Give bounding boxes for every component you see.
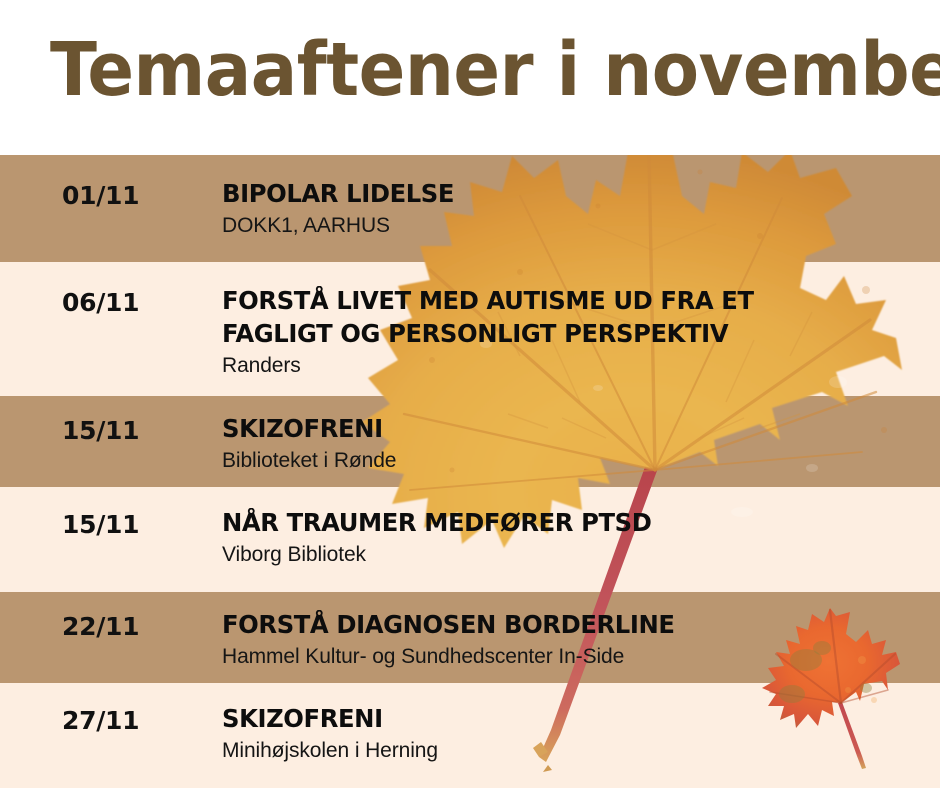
entry-title: SKIZOFRENI xyxy=(222,412,909,445)
entry-date: 15/11 xyxy=(62,510,139,539)
schedule-entry: 06/11 FORSTÅ LIVET MED AUTISME UD FRA ET… xyxy=(0,262,940,396)
entry-venue: DOKK1, AARHUS xyxy=(222,212,930,239)
entry-title: SKIZOFRENI xyxy=(222,702,909,735)
entry-date: 15/11 xyxy=(62,416,139,445)
poster: 01/11 BIPOLAR LIDELSE DOKK1, AARHUS 06/1… xyxy=(0,0,940,788)
entry-date: 01/11 xyxy=(62,181,139,210)
entry-venue: Viborg Bibliotek xyxy=(222,541,930,568)
schedule-entry: 22/11 FORSTÅ DIAGNOSEN BORDERLINE Hammel… xyxy=(0,592,940,683)
entry-venue: Biblioteket i Rønde xyxy=(222,447,930,474)
entry-date: 06/11 xyxy=(62,288,139,317)
entry-body: FORSTÅ LIVET MED AUTISME UD FRA ET FAGLI… xyxy=(222,284,930,379)
entry-venue: Hammel Kultur- og Sundhedscenter In-Side xyxy=(222,643,930,670)
entry-body: SKIZOFRENI Biblioteket i Rønde xyxy=(222,412,930,474)
entry-venue: Minihøjskolen i Herning xyxy=(222,737,930,764)
schedule-entry: 15/11 NÅR TRAUMER MEDFØRER PTSD Viborg B… xyxy=(0,487,940,592)
schedule-entry: 27/11 SKIZOFRENI Minihøjskolen i Herning xyxy=(0,683,940,788)
entry-title: FORSTÅ DIAGNOSEN BORDERLINE xyxy=(222,608,909,641)
entry-date: 22/11 xyxy=(62,612,139,641)
entry-body: NÅR TRAUMER MEDFØRER PTSD Viborg Bibliot… xyxy=(222,506,930,568)
schedule-text: 01/11 BIPOLAR LIDELSE DOKK1, AARHUS 06/1… xyxy=(0,155,940,788)
entry-title-line2: FAGLIGT OG PERSONLIGT PERSPEKTIV xyxy=(222,317,909,350)
title-bar: Temaaftener i november xyxy=(0,0,940,155)
entry-venue: Randers xyxy=(222,352,930,379)
entry-title: NÅR TRAUMER MEDFØRER PTSD xyxy=(222,506,909,539)
page-title: Temaaftener i november xyxy=(50,22,940,118)
schedule-entry: 01/11 BIPOLAR LIDELSE DOKK1, AARHUS xyxy=(0,155,940,262)
entry-date: 27/11 xyxy=(62,706,139,735)
schedule-entry: 15/11 SKIZOFRENI Biblioteket i Rønde xyxy=(0,396,940,487)
entry-body: SKIZOFRENI Minihøjskolen i Herning xyxy=(222,702,930,764)
entry-title: BIPOLAR LIDELSE xyxy=(222,177,909,210)
entry-title-line1: FORSTÅ LIVET MED AUTISME UD FRA ET xyxy=(222,284,909,317)
entry-body: FORSTÅ DIAGNOSEN BORDERLINE Hammel Kultu… xyxy=(222,608,930,670)
entry-body: BIPOLAR LIDELSE DOKK1, AARHUS xyxy=(222,177,930,239)
